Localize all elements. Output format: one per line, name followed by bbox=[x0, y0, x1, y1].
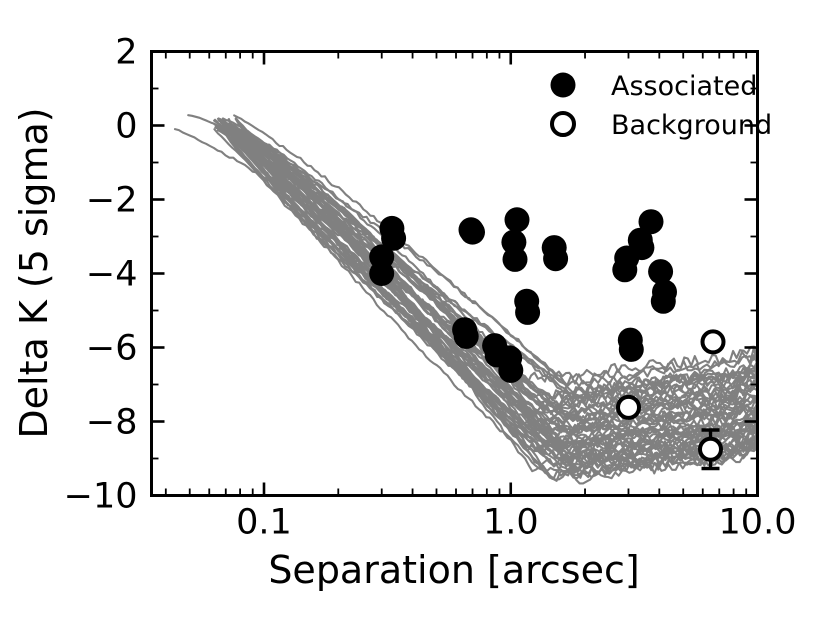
data-point-associated bbox=[498, 358, 523, 383]
y-tick-labels: 20−2−4−6−8−10 bbox=[64, 33, 138, 517]
legend-marker-associated bbox=[551, 73, 576, 98]
data-point-associated bbox=[503, 247, 528, 272]
y-tick-label: 2 bbox=[115, 33, 137, 73]
y-tick-label: 0 bbox=[115, 107, 137, 147]
data-point-associated bbox=[639, 209, 664, 234]
data-point-associated bbox=[454, 324, 479, 349]
contrast-curve-scatter-plot: 0.11.010.0 20−2−4−6−8−10 Separation [arc… bbox=[0, 0, 830, 623]
legend-label-associated: Associated bbox=[611, 71, 757, 102]
data-point-associated bbox=[652, 280, 677, 305]
data-point-associated bbox=[629, 235, 654, 260]
data-point-associated bbox=[543, 246, 568, 271]
x-tick-labels: 0.11.010.0 bbox=[236, 503, 796, 543]
figure-container: 0.11.010.0 20−2−4−6−8−10 Separation [arc… bbox=[0, 0, 830, 623]
data-point-associated bbox=[460, 220, 485, 245]
y-tick-label: −6 bbox=[86, 329, 138, 369]
legend-marker-background bbox=[552, 113, 574, 135]
y-tick-label: −4 bbox=[86, 255, 138, 295]
data-point-associated bbox=[505, 207, 530, 232]
data-point-background bbox=[700, 439, 721, 460]
data-point-background bbox=[703, 331, 724, 352]
y-tick-label: −10 bbox=[64, 477, 138, 517]
x-axis-title: Separation [arcsec] bbox=[268, 548, 639, 592]
y-tick-label: −2 bbox=[86, 181, 138, 221]
data-point-associated bbox=[515, 300, 540, 325]
data-point-associated bbox=[381, 226, 406, 251]
data-point-background bbox=[618, 397, 639, 418]
data-point-associated bbox=[369, 261, 394, 286]
x-tick-label: 0.1 bbox=[236, 503, 292, 543]
data-point-associated bbox=[619, 337, 644, 362]
y-axis-title: Delta K (5 sigma) bbox=[12, 107, 56, 438]
y-tick-label: −8 bbox=[86, 403, 138, 443]
x-tick-label: 10.0 bbox=[719, 503, 797, 543]
x-tick-label: 1.0 bbox=[483, 503, 539, 543]
legend-label-background: Background bbox=[611, 110, 772, 141]
